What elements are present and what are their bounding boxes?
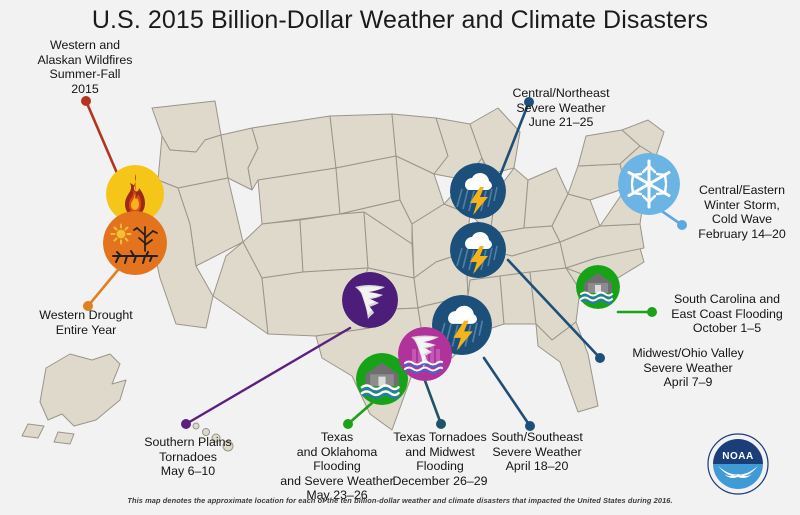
connector-dot-wildfires[interactable] — [81, 96, 91, 106]
label-central-northeast-severe-weather: Central/Northeast Severe Weather June 21… — [466, 86, 656, 130]
tornado-flood-icon[interactable] — [398, 327, 452, 381]
label-western-drought: Western Drought Entire Year — [6, 308, 166, 337]
noaa-logo: NOAA — [706, 432, 770, 496]
connector-dot-southern-plains[interactable] — [181, 419, 191, 429]
label-western-alaskan-wildfires: Western and Alaskan Wildfires Summer-Fal… — [10, 38, 160, 96]
connector-dot-midwest-ohio[interactable] — [595, 353, 605, 363]
footnote: This map denotes the approximate locatio… — [0, 496, 800, 505]
label-central-eastern-winter-storm: Central/Eastern Winter Storm, Cold Wave … — [686, 183, 798, 241]
label-texas-oklahoma-flooding: Texas and Oklahoma Flooding and Severe W… — [272, 430, 402, 503]
tornado-icon[interactable] — [342, 272, 398, 328]
flooding-icon[interactable] — [576, 265, 620, 309]
drought-icon[interactable] — [103, 211, 167, 275]
snowflake-icon[interactable] — [618, 153, 680, 215]
label-midwest-ohio-valley-severe-weather: Midwest/Ohio Valley Severe Weather April… — [608, 346, 768, 390]
infographic-root: U.S. 2015 Billion-Dollar Weather and Cli… — [0, 0, 800, 515]
thunderstorm-icon[interactable] — [450, 163, 506, 219]
svg-text:NOAA: NOAA — [722, 451, 753, 462]
connector-dot-texas-oklahoma[interactable] — [343, 419, 353, 429]
label-southern-plains-tornadoes: Southern Plains Tornadoes May 6–10 — [118, 435, 258, 479]
label-south-carolina-east-coast-flooding: South Carolina and East Coast Flooding O… — [656, 292, 798, 336]
connector-dot-texas-tornadoes[interactable] — [436, 419, 446, 429]
thunderstorm-icon[interactable] — [450, 222, 506, 278]
